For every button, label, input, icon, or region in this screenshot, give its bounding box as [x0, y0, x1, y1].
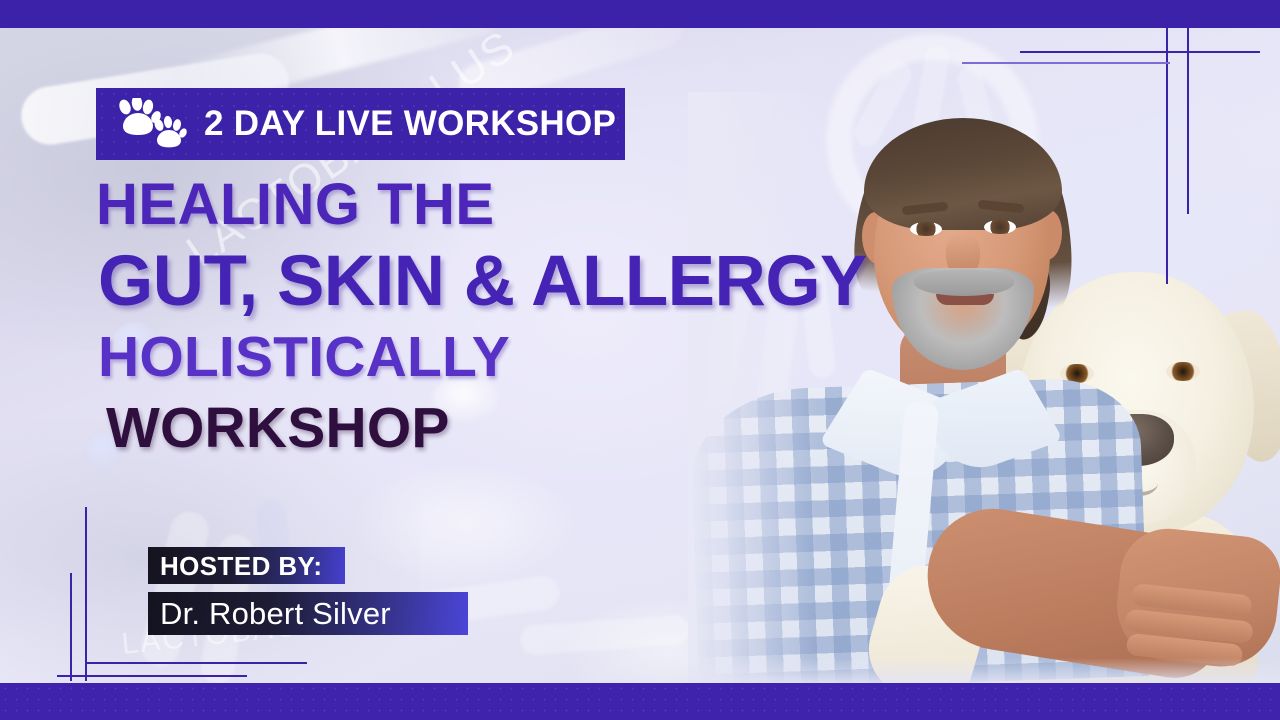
- headline-line-1: HEALING THE: [96, 176, 916, 234]
- top-bar: [0, 0, 1280, 28]
- promo-banner: LACTOBACILLUS LACTOBACILLUS: [0, 0, 1280, 720]
- headline-line-4: WORKSHOP: [106, 400, 916, 457]
- headline-line-3: HOLISTICALLY: [98, 329, 916, 386]
- workshop-badge: 2 DAY LIVE WORKSHOP: [96, 88, 625, 160]
- mustache: [914, 270, 1014, 296]
- hand: [1112, 524, 1280, 672]
- headline-line-2: GUT, SKIN & ALLERGY: [98, 246, 916, 317]
- bottom-bar: [0, 683, 1280, 720]
- decor-line-horizontal: [57, 675, 247, 677]
- decor-line-vertical: [1187, 28, 1189, 214]
- host-name: Dr. Robert Silver: [160, 598, 391, 629]
- hosted-by-label: HOSTED BY:: [160, 553, 322, 579]
- hosted-by-label-bar: HOSTED BY:: [148, 547, 345, 584]
- decor-line-vertical: [70, 573, 72, 681]
- decor-line-horizontal: [1020, 51, 1260, 53]
- decor-line-horizontal: [85, 662, 307, 664]
- decor-line-vertical: [1166, 28, 1168, 284]
- badge-label: 2 DAY LIVE WORKSHOP: [204, 104, 616, 144]
- photo-edge-fade: [688, 658, 1280, 684]
- paw-print-icon: [114, 98, 190, 150]
- dog-eye-right: [1166, 362, 1200, 381]
- host-name-bar: Dr. Robert Silver: [148, 592, 468, 635]
- decor-line-vertical: [85, 507, 87, 681]
- page-title: HEALING THE GUT, SKIN & ALLERGY HOLISTIC…: [96, 176, 916, 457]
- decor-line-horizontal-light: [962, 62, 1170, 64]
- eye-right: [984, 220, 1016, 234]
- hosted-by-block: HOSTED BY: Dr. Robert Silver: [148, 547, 468, 635]
